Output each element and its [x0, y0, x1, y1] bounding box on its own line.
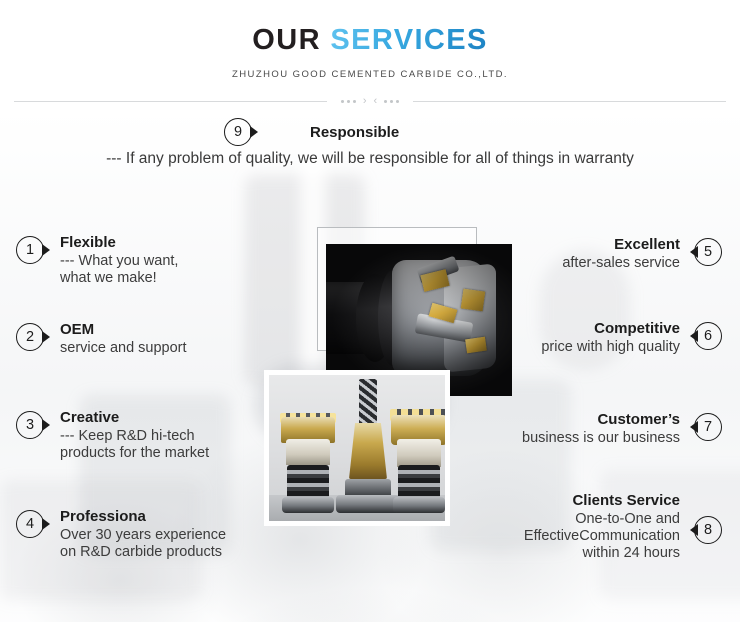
divider-ornament: › ‹: [327, 96, 413, 107]
service-item-title: Professiona: [60, 508, 226, 526]
badge-number-4-icon: 4: [14, 508, 48, 542]
featured-item-responsible: 9 Responsible: [222, 116, 399, 150]
featured-item-description: --- If any problem of quality, we will b…: [0, 150, 740, 168]
badge-number-7-icon: 7: [692, 411, 726, 445]
service-item-title: Clients Service: [524, 492, 680, 510]
service-item-line: price with high quality: [541, 339, 680, 356]
divider-rule-left: [14, 101, 327, 102]
badge-number-8-icon: 8: [692, 514, 726, 548]
badge-number: 9: [234, 125, 242, 140]
badge-number-2-icon: 2: [14, 321, 48, 355]
service-item-flexible: 1 Flexible --- What you want, what we ma…: [14, 234, 178, 287]
service-item-title: Excellent: [562, 236, 680, 254]
badge-number-3-icon: 3: [14, 409, 48, 443]
page-title: OUR SERVICES: [0, 0, 740, 55]
badge-number-9-icon: 9: [222, 116, 256, 150]
dots-left-icon: [341, 100, 356, 103]
title-word-services: SERVICES: [330, 24, 487, 56]
service-item-competitive: 6 Competitive price with high quality: [541, 320, 726, 356]
badge-number-6-icon: 6: [692, 320, 726, 354]
service-item-title: Flexible: [60, 234, 178, 252]
service-item-line: --- What you want,: [60, 253, 178, 270]
chevron-left-icon: ‹: [374, 96, 378, 107]
service-item-line: EffectiveCommunication: [524, 528, 680, 545]
dots-right-icon: [384, 100, 399, 103]
service-item-line: on R&D carbide products: [60, 544, 226, 561]
service-item-title: OEM: [60, 321, 187, 339]
badge-number-5-icon: 5: [692, 236, 726, 270]
company-name: ZHUZHOU GOOD CEMENTED CARBIDE CO.,LTD.: [0, 55, 740, 80]
service-item-title: Customer’s: [522, 411, 680, 429]
badge-number-1-icon: 1: [14, 234, 48, 268]
badge-number: 8: [704, 523, 712, 538]
badge-number: 1: [26, 243, 34, 258]
poster-header: OUR SERVICES ZHUZHOU GOOD CEMENTED CARBI…: [0, 0, 740, 80]
service-item-line: Over 30 years experience: [60, 527, 226, 544]
service-item-line: within 24 hours: [524, 545, 680, 562]
service-item-title: Competitive: [541, 320, 680, 338]
service-item-professional: 4 Professiona Over 30 years experience o…: [14, 508, 226, 561]
badge-number: 7: [704, 420, 712, 435]
service-item-oem: 2 OEM service and support: [14, 321, 187, 357]
service-item-excellent: 5 Excellent after-sales service: [562, 236, 726, 272]
badge-number: 2: [26, 330, 34, 345]
service-item-line: --- Keep R&D hi-tech: [60, 428, 209, 445]
services-poster: OUR SERVICES ZHUZHOU GOOD CEMENTED CARBI…: [0, 0, 740, 622]
service-item-line: One-to-One and: [524, 511, 680, 528]
service-item-line: service and support: [60, 340, 187, 357]
service-item-line: products for the market: [60, 445, 209, 462]
badge-number: 4: [26, 517, 34, 532]
badge-number: 5: [704, 245, 712, 260]
service-item-line: after-sales service: [562, 255, 680, 272]
badge-number: 3: [26, 418, 34, 433]
face-mill-tool: [277, 385, 339, 513]
service-item-creative: 3 Creative --- Keep R&D hi-tech products…: [14, 409, 209, 462]
service-item-title: Creative: [60, 409, 209, 427]
badge-number: 6: [704, 329, 712, 344]
service-item-clients-service: 8 Clients Service One-to-One and Effecti…: [524, 492, 726, 562]
featured-item-title: Responsible: [310, 116, 399, 150]
divider-rule-right: [413, 101, 726, 102]
service-item-line: what we make!: [60, 270, 178, 287]
tool-holders-photo: [264, 370, 450, 526]
title-word-our: OUR: [252, 24, 321, 56]
service-item-line: business is our business: [522, 430, 680, 447]
divider: › ‹: [14, 93, 726, 109]
indexable-cutter-tool: [387, 383, 445, 513]
service-item-customers: 7 Customer’s business is our business: [522, 411, 726, 447]
chevron-right-icon: ›: [363, 96, 367, 107]
